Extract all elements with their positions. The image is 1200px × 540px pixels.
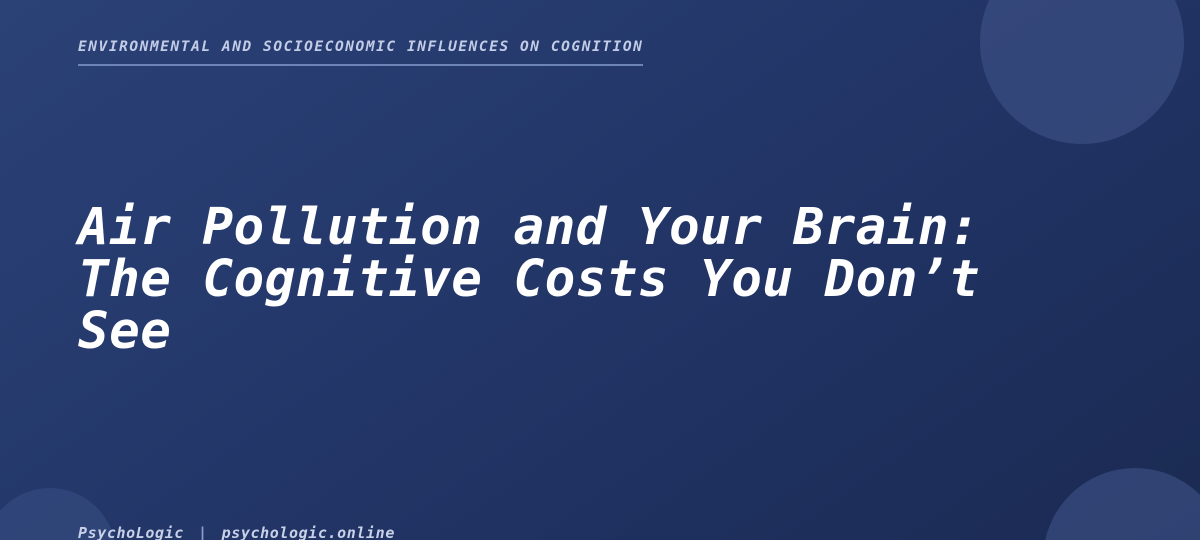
- kicker-divider: [78, 64, 643, 66]
- footer-separator: |: [184, 524, 222, 540]
- kicker-block: ENVIRONMENTAL AND SOCIOECONOMIC INFLUENC…: [78, 36, 643, 66]
- page-title: Air Pollution and Your Brain: The Cognit…: [78, 202, 1078, 358]
- brand-name: PsychoLogic: [78, 524, 184, 540]
- site-url: psychologic.online: [222, 524, 395, 540]
- kicker-label: ENVIRONMENTAL AND SOCIOECONOMIC INFLUENC…: [78, 39, 643, 56]
- slide-content: ENVIRONMENTAL AND SOCIOECONOMIC INFLUENC…: [78, 0, 1122, 540]
- title-slide: ENVIRONMENTAL AND SOCIOECONOMIC INFLUENC…: [0, 0, 1200, 540]
- footer: PsychoLogic|psychologic.online: [78, 524, 395, 540]
